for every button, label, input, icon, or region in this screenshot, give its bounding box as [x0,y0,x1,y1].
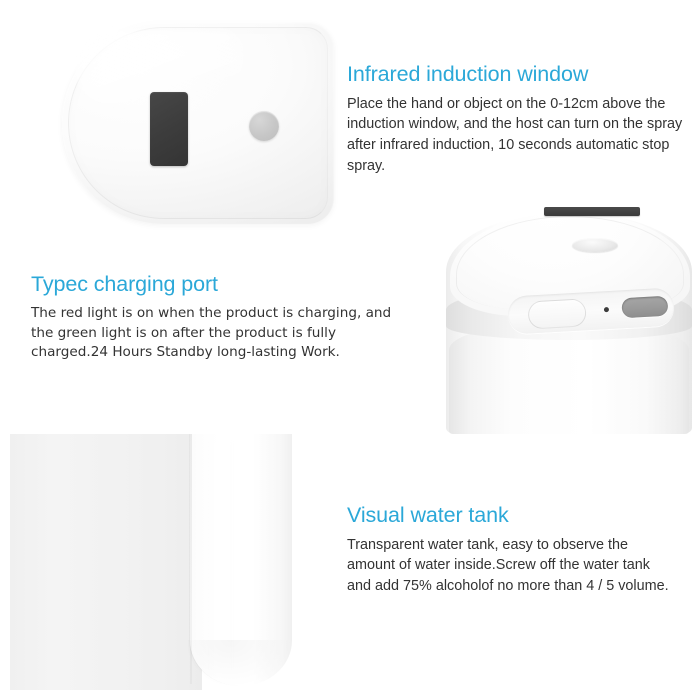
infrared-window [150,92,188,166]
section-infrared-induction-window: Infrared induction window Place the hand… [347,62,685,176]
round-button [249,111,279,141]
tank-bottom-shadow [188,640,292,688]
power-button[interactable] [527,298,586,329]
device-top-photo [420,196,692,434]
section-visual-water-tank: Visual water tank Transparent water tank… [347,503,677,597]
section-heading: Typec charging port [31,272,399,297]
device-bottom-photo [62,22,334,224]
tank-highlight [206,440,236,670]
section-heading: Infrared induction window [347,62,685,87]
infographic-canvas: Infrared induction window Place the hand… [0,0,700,700]
water-tank-photo [10,434,292,690]
charging-led-indicator [604,307,609,312]
section-typec-charging-port: Typec charging port The red light is on … [31,272,399,363]
device-tank-section [449,324,689,434]
typec-charging-port [621,296,668,319]
tank-body-left [10,434,202,690]
spray-nozzle [572,238,618,252]
infrared-sensor-strip [544,207,640,216]
section-heading: Visual water tank [347,503,677,528]
section-body: The red light is on when the product is … [31,304,399,364]
section-body: Place the hand or object on the 0-12cm a… [347,94,685,176]
section-body: Transparent water tank, easy to observe … [347,535,677,597]
